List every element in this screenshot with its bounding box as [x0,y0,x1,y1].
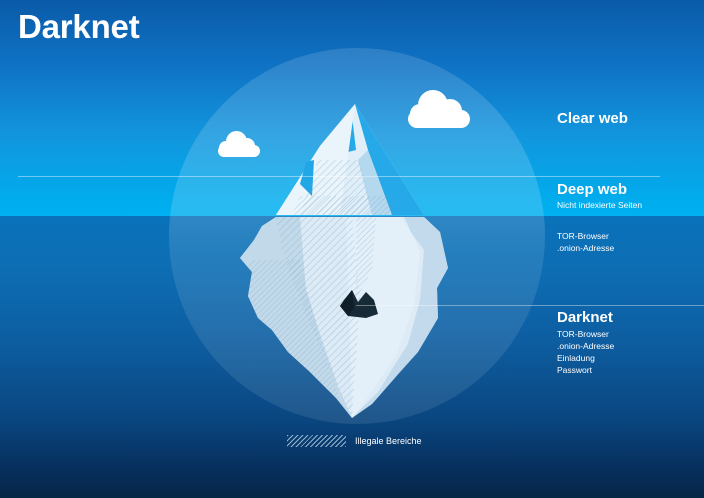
deep-web-divider [18,176,660,177]
darknet-requirement-item: Passwort [557,364,614,376]
deep-web-requirements: TOR-Browser .onion-Adresse [557,230,614,254]
page-title: Darknet [18,8,139,46]
darknet-requirement-item: .onion-Adresse [557,340,614,352]
label-clear-web: Clear web [557,110,628,127]
deep-web-requirement-item: TOR-Browser [557,230,614,242]
legend-label: Illegale Bereiche [355,436,422,446]
label-deep-web: Deep web [557,181,627,198]
darknet-iceberg-infographic: Darknet Clear web Deep web Nicht indexie… [0,0,704,498]
legend: Illegale Bereiche [287,435,422,447]
darknet-requirement-item: TOR-Browser [557,328,614,340]
darknet-requirement-item: Einladung [557,352,614,364]
darknet-divider [356,305,704,306]
label-deep-web-subtitle: Nicht indexierte Seiten [557,199,642,211]
darknet-requirements: TOR-Browser .onion-Adresse Einladung Pas… [557,328,614,376]
legend-hatch-swatch [287,435,346,447]
deep-web-requirement-item: .onion-Adresse [557,242,614,254]
label-darknet: Darknet [557,309,613,326]
